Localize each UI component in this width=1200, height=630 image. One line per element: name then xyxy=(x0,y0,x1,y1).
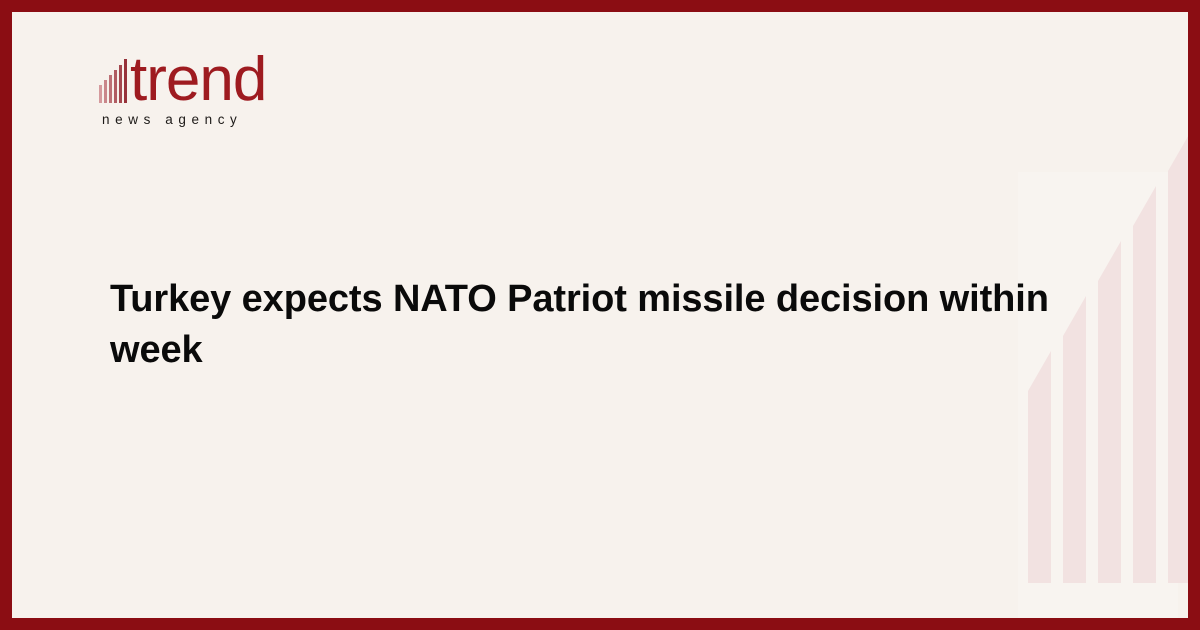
decor-bar xyxy=(1098,281,1121,583)
logo-tagline: news agency xyxy=(102,112,399,127)
logo-name: trend xyxy=(130,53,266,106)
card-content-area: trend news agency Turkey expects NATO Pa… xyxy=(12,12,1188,618)
decor-bar xyxy=(1133,226,1156,583)
brand-logo[interactable]: trend news agency xyxy=(99,44,399,127)
decor-bar xyxy=(1028,391,1051,583)
decor-bar xyxy=(1063,336,1086,583)
logo-wordmark: trend xyxy=(99,44,399,106)
decor-bar xyxy=(1168,171,1188,583)
ascending-bars-icon xyxy=(99,59,129,103)
social-share-card: trend news agency Turkey expects NATO Pa… xyxy=(0,0,1200,630)
page-title: Turkey expects NATO Patriot missile deci… xyxy=(110,274,1056,376)
decor-panel xyxy=(1018,172,1178,618)
